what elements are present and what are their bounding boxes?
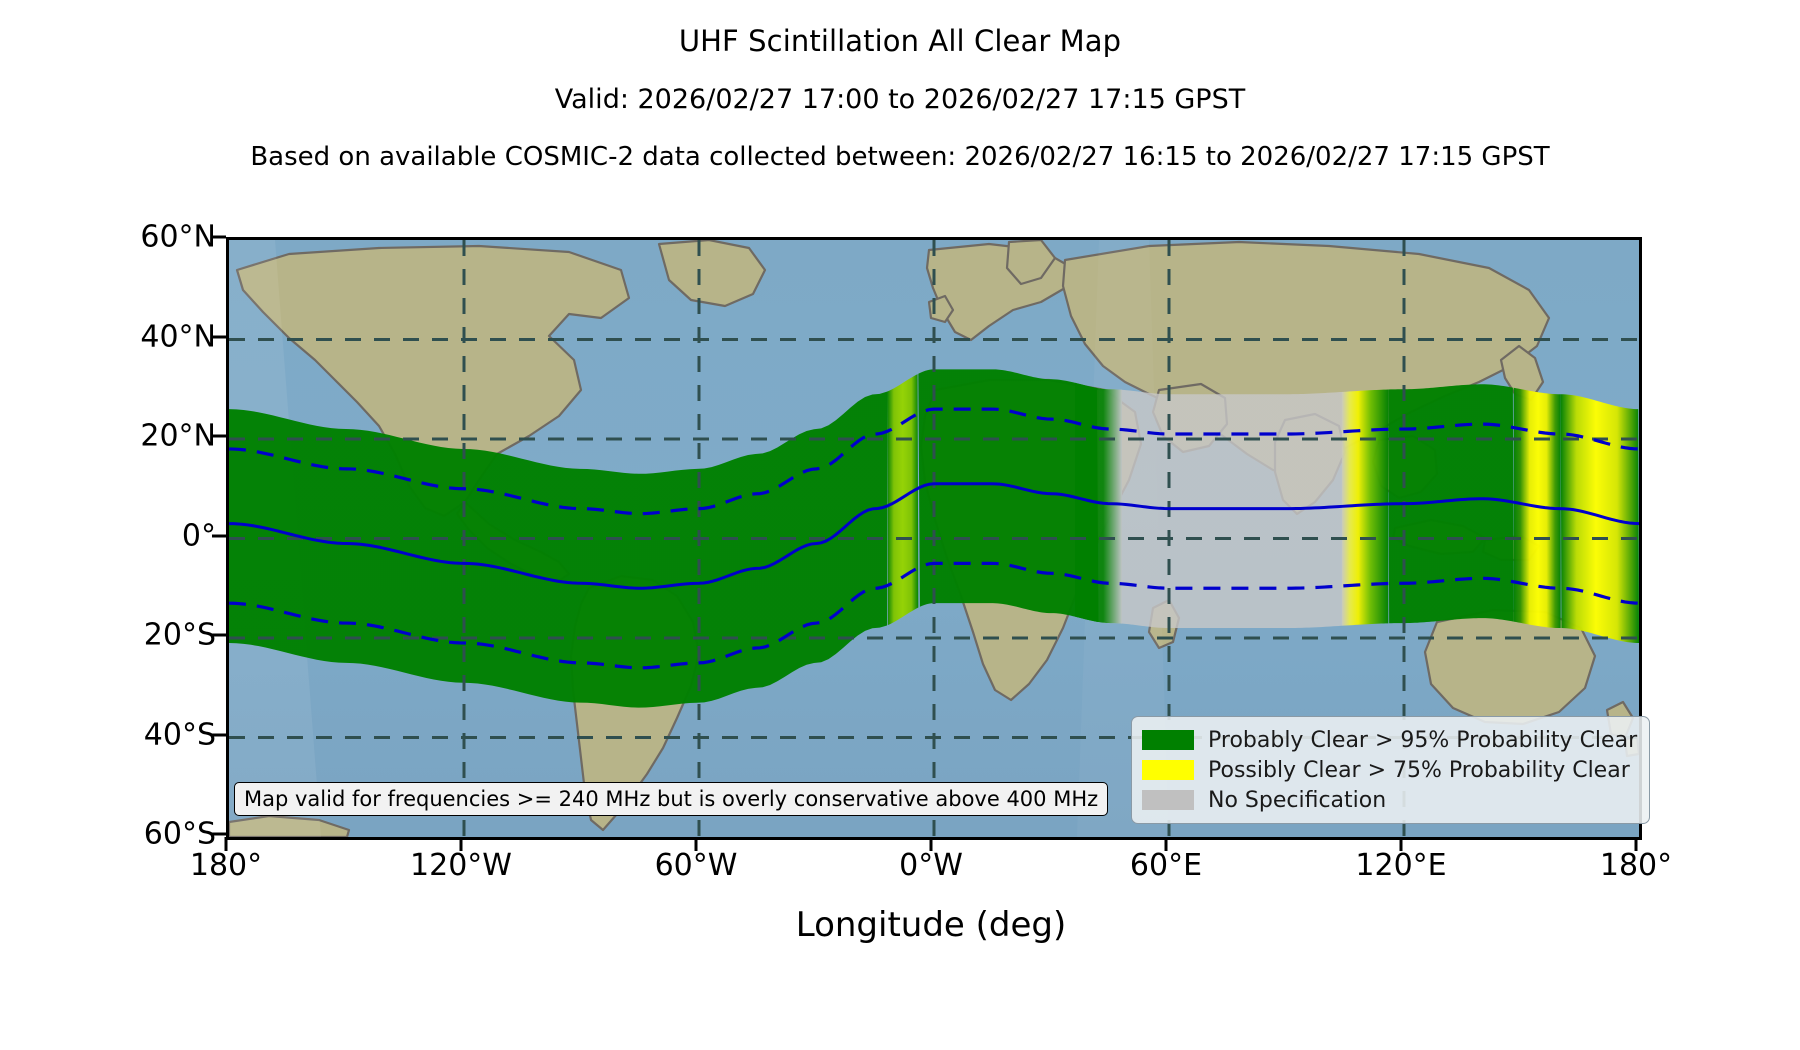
x-tick-label: 180° <box>1526 848 1746 883</box>
legend-swatch-gray <box>1142 790 1194 810</box>
legend-item-no-specification: No Specification <box>1142 785 1637 815</box>
x-tick-label: 180° <box>116 848 336 883</box>
y-tick-mark <box>212 833 226 836</box>
band-segment-possibly-clear <box>1341 389 1388 625</box>
y-tick-mark <box>212 534 226 537</box>
x-tick-label: 120°E <box>1291 848 1511 883</box>
legend-label-probably-clear: Probably Clear > 95% Probability Clear <box>1208 728 1637 753</box>
legend-label-no-specification: No Specification <box>1208 788 1386 813</box>
data-source-subtitle: Based on available COSMIC-2 data collect… <box>0 142 1800 172</box>
y-tick-label: 60°S <box>16 817 216 852</box>
x-tick-label: 60°W <box>586 848 806 883</box>
legend-item-probably-clear: Probably Clear > 95% Probability Clear <box>1142 725 1637 755</box>
legend-label-possibly-clear: Possibly Clear > 75% Probability Clear <box>1208 758 1630 783</box>
y-tick-label: 40°N <box>16 319 216 354</box>
y-tick-mark <box>212 236 226 239</box>
y-tick-label: 40°S <box>16 717 216 752</box>
map-legend[interactable]: Probably Clear > 95% Probability Clear P… <box>1131 716 1650 824</box>
legend-item-possibly-clear: Possibly Clear > 75% Probability Clear <box>1142 755 1637 785</box>
x-tick-label: 120°W <box>351 848 571 883</box>
y-tick-mark <box>212 335 226 338</box>
y-tick-label: 60°N <box>16 220 216 255</box>
frequency-validity-note: Map valid for frequencies >= 240 MHz but… <box>234 782 1108 816</box>
valid-period-subtitle: Valid: 2026/02/27 17:00 to 2026/02/27 17… <box>0 84 1800 115</box>
band-segment-possibly-clear <box>887 374 918 625</box>
title-block: UHF Scintillation All Clear Map Valid: 2… <box>0 0 1800 172</box>
y-tick-label: 0° <box>16 518 216 553</box>
y-tick-mark <box>212 435 226 438</box>
y-tick-label: 20°S <box>16 618 216 653</box>
page-title: UHF Scintillation All Clear Map <box>0 24 1800 58</box>
y-tick-label: 20°N <box>16 419 216 454</box>
y-tick-mark <box>212 733 226 736</box>
y-tick-mark <box>212 634 226 637</box>
legend-swatch-green <box>1142 730 1194 750</box>
x-tick-label: 60°E <box>1056 848 1276 883</box>
band-segment-probably-clear <box>1561 394 1639 643</box>
x-axis-label: Longitude (deg) <box>226 905 1636 945</box>
legend-swatch-yellow <box>1142 760 1194 780</box>
x-tick-label: 0°W <box>821 848 1041 883</box>
